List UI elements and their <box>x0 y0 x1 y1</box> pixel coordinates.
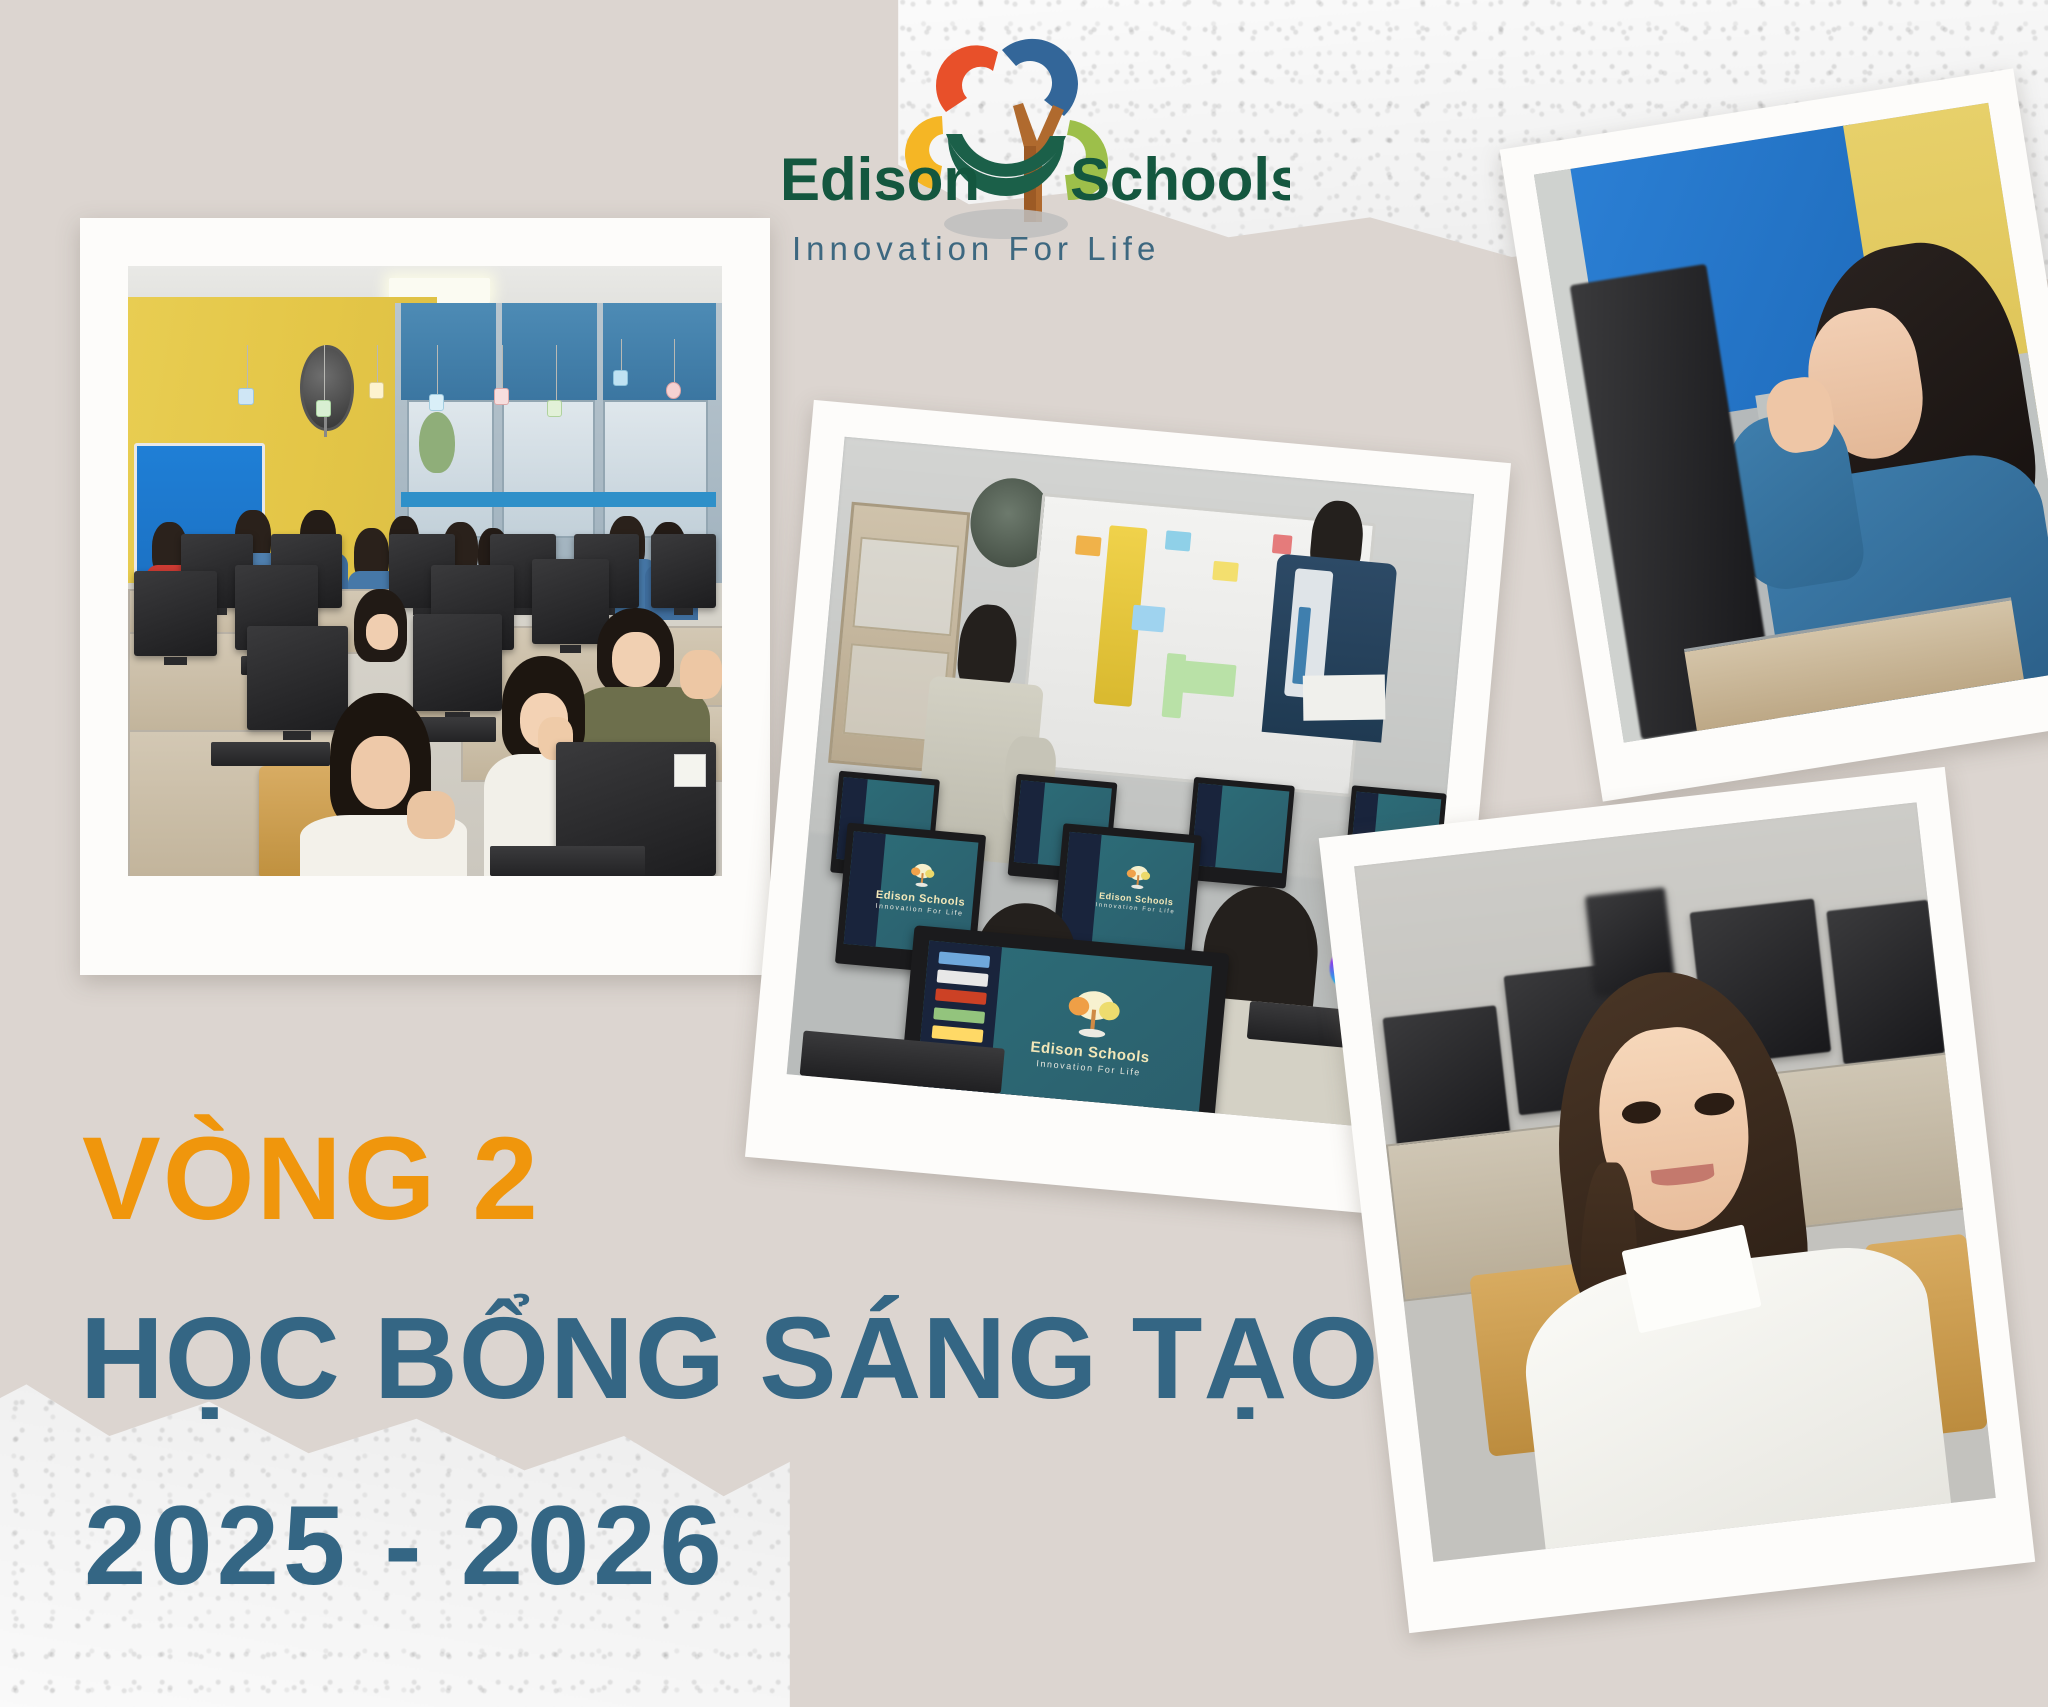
photo-computer-lab-wide <box>128 266 722 876</box>
logo-tagline: Innovation For Life <box>792 230 1160 267</box>
poster-canvas: Edison Schools Innovation For Life <box>0 0 2048 1707</box>
photo-frame-student-blue-jacket <box>1500 68 2048 801</box>
poster-title: HỌC BỔNG SÁNG TẠO <box>80 1300 1379 1416</box>
photo-student-blue-jacket <box>1534 103 2048 743</box>
logo-word-schools: Schools <box>1070 146 1290 213</box>
logo-word-edison: Edison <box>780 146 980 213</box>
year-range: 2025 - 2026 <box>84 1490 726 1602</box>
photo-student-white-shirt <box>1354 802 1996 1562</box>
photo-frame-computer-lab-wide <box>80 218 770 975</box>
edison-schools-logo: Edison Schools Innovation For Life <box>770 28 1290 278</box>
round-label: VÒNG 2 <box>82 1120 540 1238</box>
photo-frame-student-white-shirt <box>1319 767 2036 1633</box>
